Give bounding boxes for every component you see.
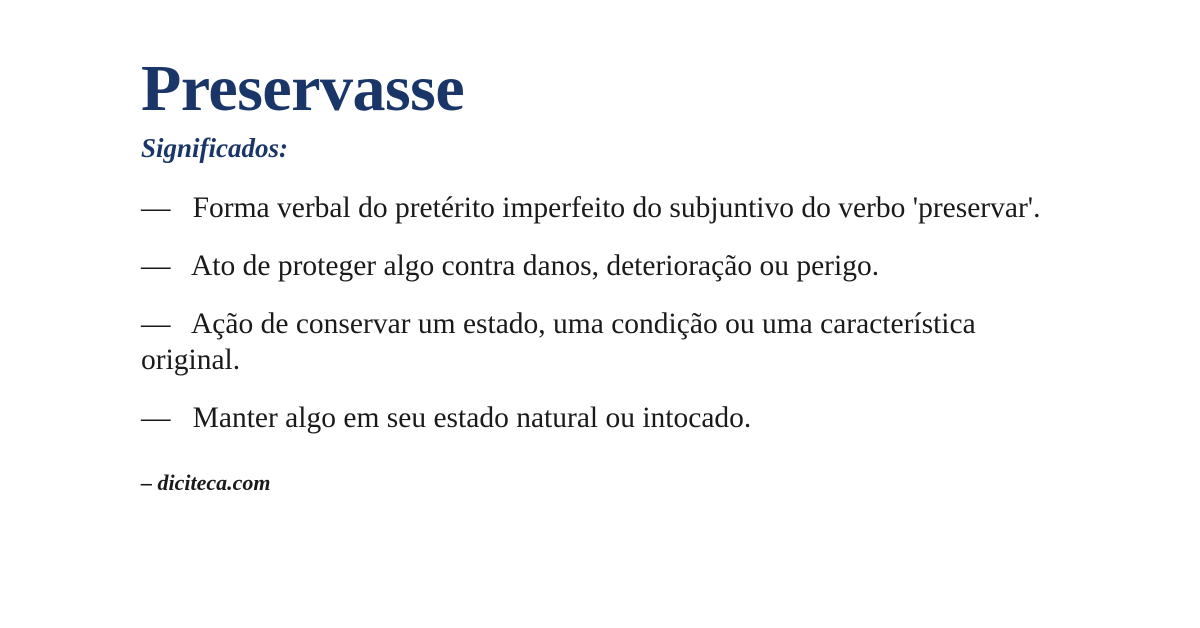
dictionary-entry-card: Preservasse Significados: — Forma verbal… [0, 0, 1200, 628]
definition-text: Manter algo em seu estado natural ou int… [193, 402, 752, 434]
list-item: — Manter algo em seu estado natural ou i… [141, 400, 1080, 436]
em-dash-marker: — [141, 250, 185, 282]
page-title: Preservasse [141, 56, 1080, 122]
meanings-section-label: Significados: [141, 134, 1080, 164]
em-dash-marker: — [141, 192, 185, 224]
em-dash-marker: — [141, 402, 185, 434]
list-item: — Ação de conservar um estado, uma condi… [141, 306, 1080, 378]
em-dash-marker: — [141, 308, 185, 340]
definition-text: Ato de proteger algo contra danos, deter… [191, 250, 879, 282]
definition-text: Ação de conservar um estado, uma condiçã… [141, 308, 976, 376]
definitions-list: — Forma verbal do pretérito imperfeito d… [141, 190, 1080, 458]
source-attribution: – diciteca.com [141, 470, 1080, 496]
list-item: — Forma verbal do pretérito imperfeito d… [141, 190, 1080, 226]
definition-text: Forma verbal do pretérito imperfeito do … [193, 192, 1041, 224]
list-item: — Ato de proteger algo contra danos, det… [141, 248, 1080, 284]
